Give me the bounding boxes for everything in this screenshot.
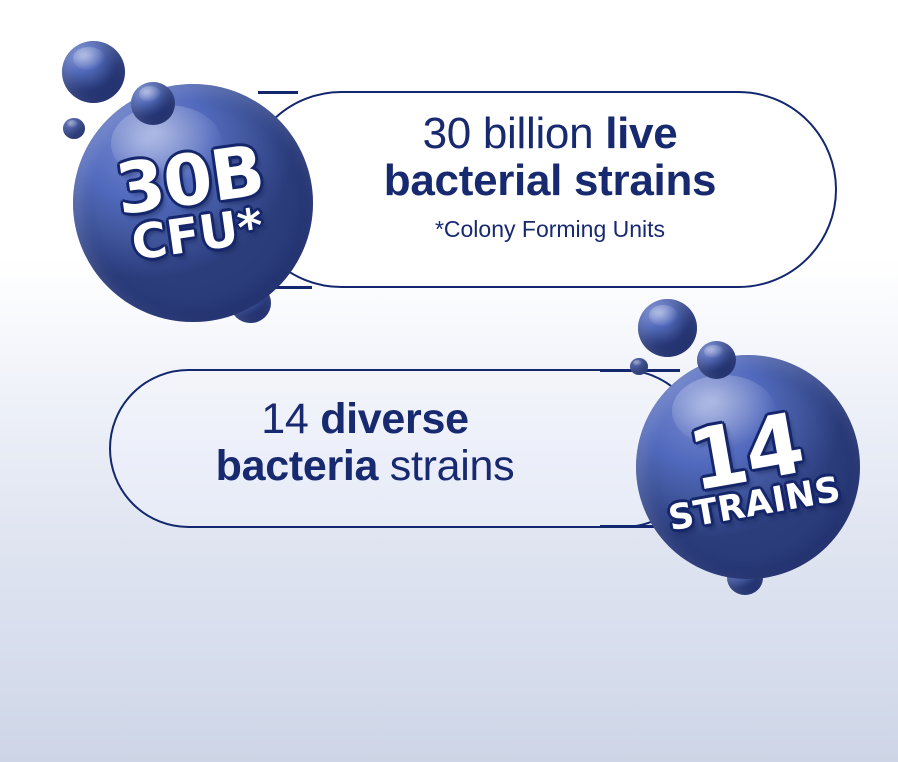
satellite-bubble-icon xyxy=(62,41,125,103)
infographic-canvas: 30 billion live bacterial strains *Colon… xyxy=(0,0,898,762)
pill-top-line1-normal: 30 billion xyxy=(423,109,606,158)
cfu-unit-label: CFU* xyxy=(129,203,266,267)
14-value-label: 14 xyxy=(683,403,808,502)
diverse-bacteria-strains-text: 14 diverse bacteria strains xyxy=(130,398,600,489)
pill-bottom-line1-normal: 14 xyxy=(261,395,320,443)
satellite-bubble-icon xyxy=(63,118,85,139)
satellite-bubble-icon xyxy=(630,358,648,375)
pill-bottom-line1-bold: diverse xyxy=(320,395,469,443)
pill-top-line-stub-left xyxy=(258,91,298,94)
pill-bottom-line2: bacteria strains xyxy=(130,445,600,489)
30b-cfu-bubble-caption: 30B CFU* xyxy=(73,84,313,322)
pill-bottom-line2-bold: bacteria xyxy=(216,442,390,490)
satellite-bubble-icon xyxy=(697,341,736,379)
satellite-bubble-icon xyxy=(638,299,697,357)
pill-top-footnote: *Colony Forming Units xyxy=(300,218,800,241)
pill-bottom-line1: 14 diverse xyxy=(130,398,600,442)
14-strains-bubble-caption: 14 STRAINS xyxy=(636,355,860,579)
pill-bottom-line2-normal: strains xyxy=(390,442,515,490)
30b-cfu-bubble: 30B CFU* xyxy=(73,84,313,322)
satellite-bubble-icon xyxy=(131,82,175,125)
pill-top-line1: 30 billion live xyxy=(300,112,800,157)
strains-unit-label: STRAINS xyxy=(666,473,843,536)
30b-value-label: 30B xyxy=(112,138,268,225)
pill-top-line1-bold: live xyxy=(605,109,677,158)
14-strains-bubble: 14 STRAINS xyxy=(636,355,860,579)
live-bacterial-strains-text: 30 billion live bacterial strains *Colon… xyxy=(300,112,800,241)
pill-top-line2: bacterial strains xyxy=(300,159,800,204)
